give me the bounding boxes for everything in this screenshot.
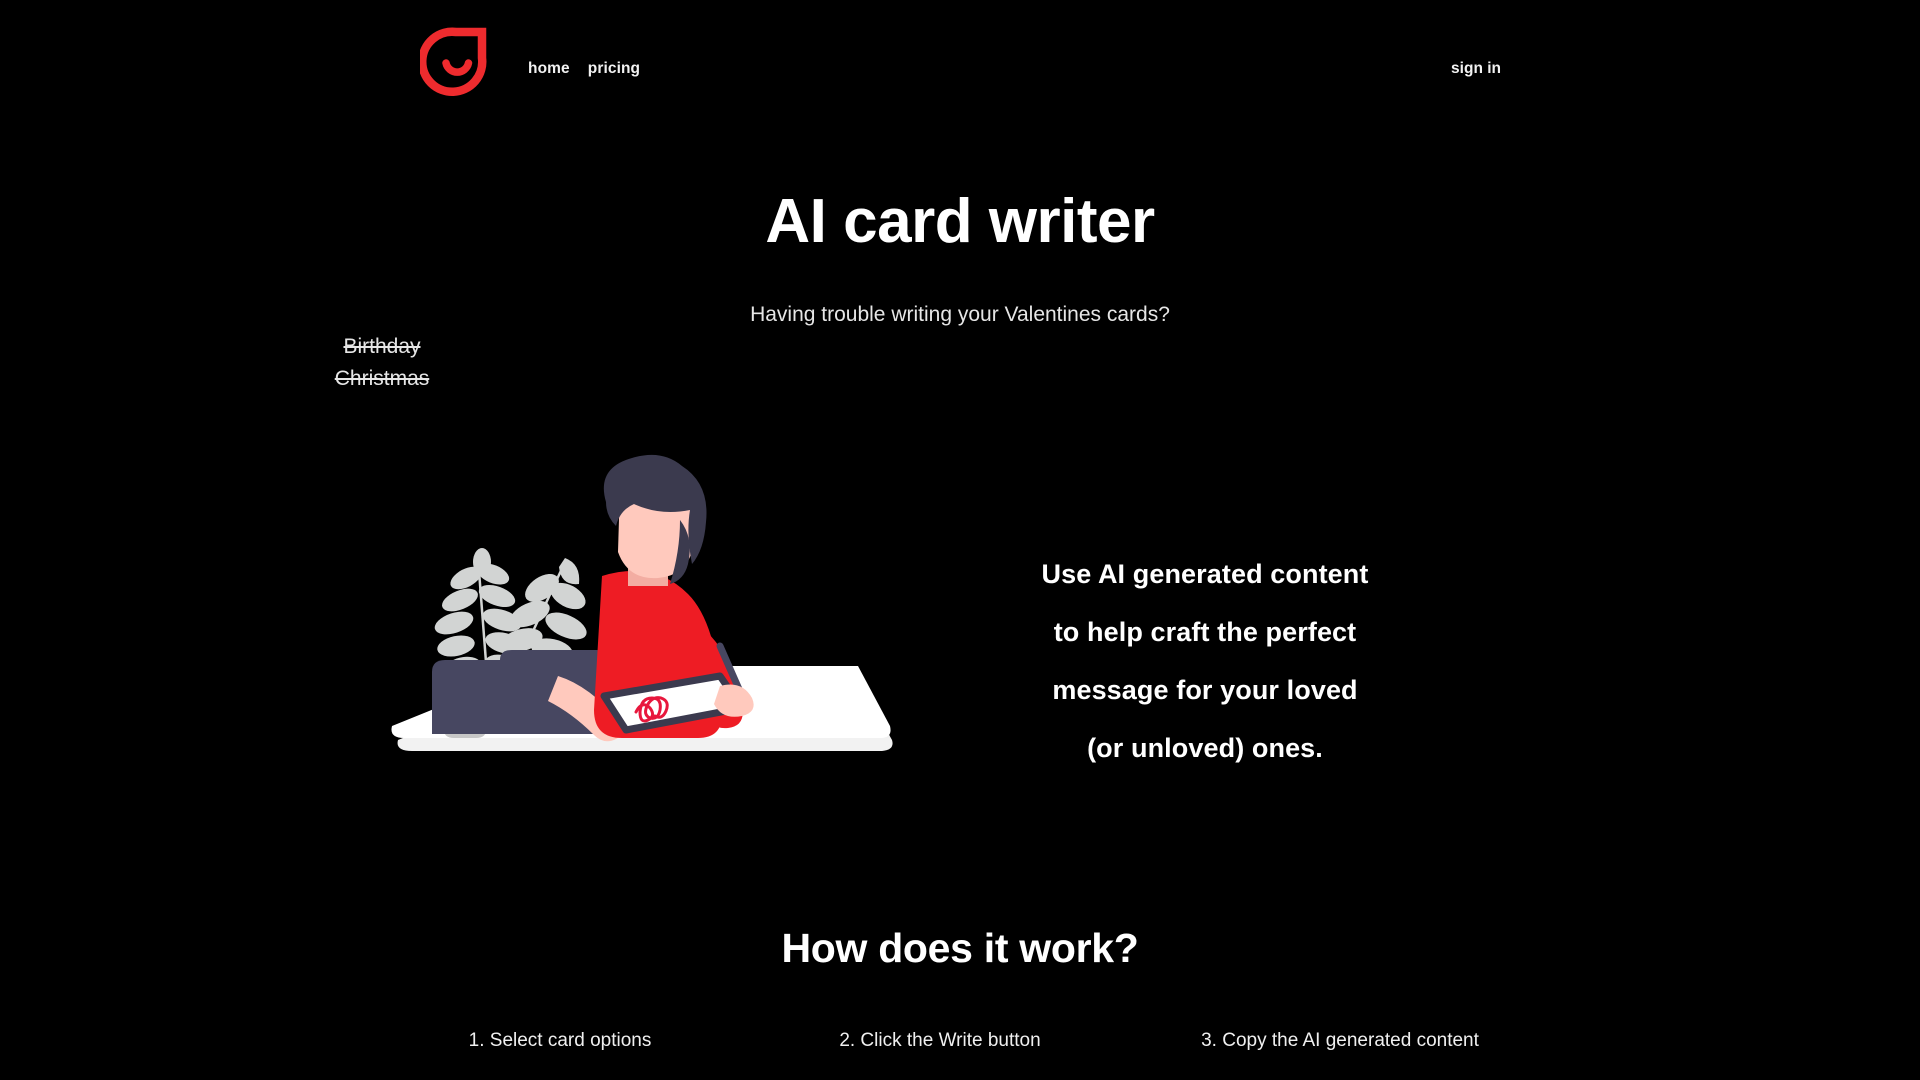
how-it-works-title: How does it work?: [0, 925, 1920, 972]
page-title: AI card writer: [0, 186, 1920, 257]
nav-link-pricing[interactable]: pricing: [588, 60, 640, 78]
pitch-line-3: message for your loved: [985, 661, 1425, 719]
hero-illustration: [390, 450, 900, 860]
value-proposition: Use AI generated content to help craft t…: [985, 545, 1425, 777]
brand-logo[interactable]: [420, 26, 494, 100]
step-item-3: 3. Copy the AI generated content: [1130, 1030, 1550, 1052]
subtitle-struck-christmas: Christmas: [142, 363, 622, 395]
speech-bubble-smile-logo-icon: [420, 26, 494, 100]
top-navbar: home pricing sign in: [0, 0, 1920, 118]
subtitle-main-line: Having trouble writing your Valentines c…: [0, 299, 1920, 331]
landing-page: home pricing sign in AI card writer Havi…: [0, 0, 1920, 1080]
subtitle-struck-christmas-wrap: Christmas: [0, 363, 1920, 395]
hero-subtitle: Having trouble writing your Valentines c…: [0, 299, 1920, 395]
sign-in-link[interactable]: sign in: [1451, 60, 1501, 78]
how-it-works-steps: 1. Select card options 2. Click the Writ…: [0, 1030, 1920, 1052]
pitch-line-4: (or unloved) ones.: [985, 719, 1425, 777]
subtitle-struck-birthday-wrap: Birthday: [0, 331, 1920, 363]
nav-links: home pricing: [528, 60, 640, 78]
woman-writing-card-at-desk-icon: [390, 450, 900, 860]
subtitle-struck-birthday: Birthday: [142, 331, 622, 363]
pitch-line-1: Use AI generated content: [985, 545, 1425, 603]
step-item-2: 2. Click the Write button: [750, 1030, 1130, 1052]
nav-link-home[interactable]: home: [528, 60, 570, 78]
pitch-line-2: to help craft the perfect: [985, 603, 1425, 661]
step-item-1: 1. Select card options: [370, 1030, 750, 1052]
